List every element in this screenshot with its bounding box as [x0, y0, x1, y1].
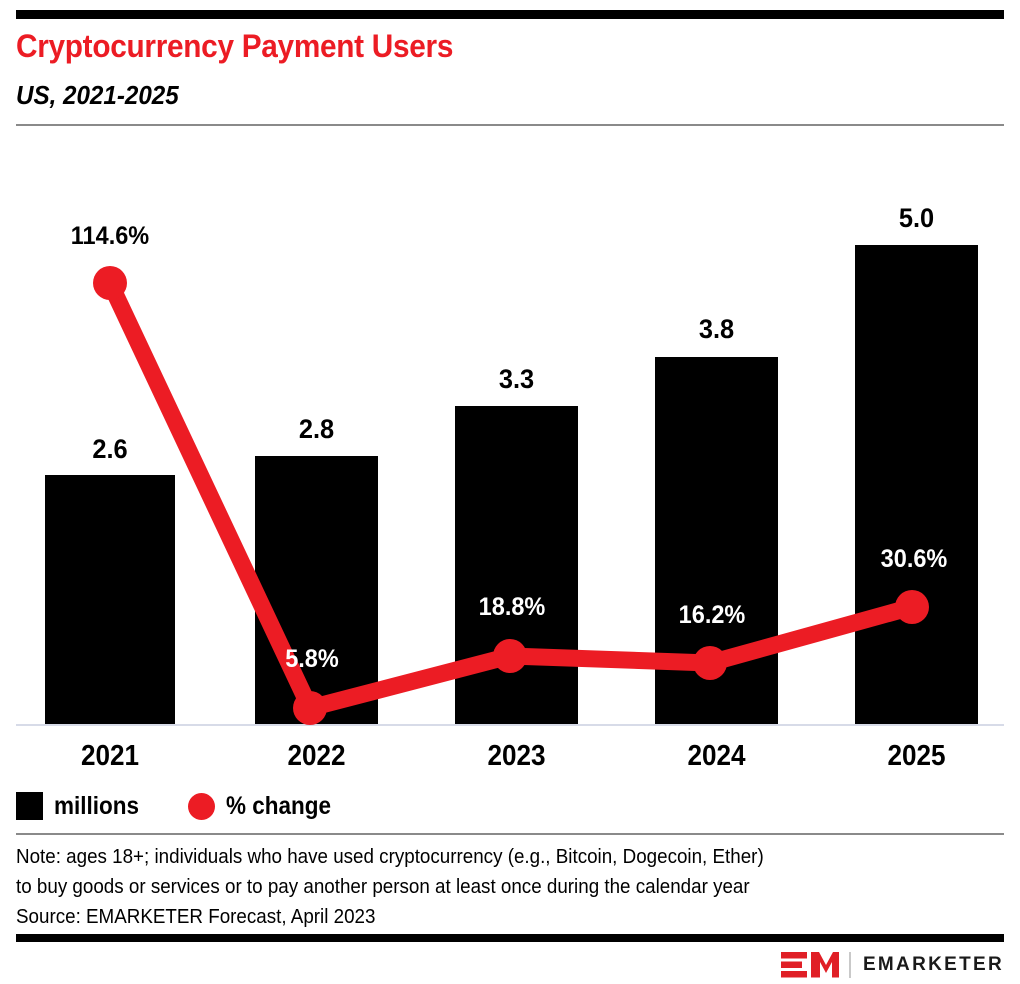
legend-circle-swatch-icon — [188, 793, 215, 820]
note-line-2: to buy goods or services or to pay anoth… — [16, 872, 945, 902]
note-line-1: Note: ages 18+; individuals who have use… — [16, 842, 945, 872]
bottom-rule — [16, 934, 1004, 942]
legend-item-percent-change: % change — [188, 792, 343, 821]
pct-label-2023: 18.8% — [427, 593, 596, 622]
top-rule — [16, 10, 1004, 19]
data-point-marker-2021 — [93, 266, 127, 300]
pct-label-2021: 114.6% — [25, 222, 194, 251]
legend-label-millions: millions — [54, 792, 139, 821]
pct-label-2022: 5.8% — [227, 645, 396, 674]
legend-item-millions: millions — [16, 792, 148, 821]
logo-wordmark: EMARKETER — [863, 954, 1004, 976]
header-divider — [16, 124, 1004, 126]
legend-square-swatch-icon — [16, 792, 43, 820]
pct-label-2025: 30.6% — [829, 545, 998, 574]
data-point-marker-2023 — [493, 639, 527, 673]
x-axis-labels: 2021 2022 2023 2024 2025 — [0, 740, 1020, 780]
emarketer-logo: EMARKETER — [781, 950, 1004, 980]
logo-divider — [849, 952, 851, 978]
infographic-page: Cryptocurrency Payment Users US, 2021-20… — [0, 0, 1020, 984]
data-point-marker-2022 — [293, 691, 327, 725]
x-label-2022: 2022 — [261, 740, 372, 773]
em-monogram-icon — [781, 951, 839, 979]
footer-notes: Note: ages 18+; individuals who have use… — [16, 842, 1004, 932]
x-label-2025: 2025 — [861, 740, 972, 773]
x-label-2024: 2024 — [661, 740, 772, 773]
x-label-2021: 2021 — [52, 740, 169, 773]
page-title: Cryptocurrency Payment Users — [16, 28, 453, 65]
data-point-marker-2024 — [693, 646, 727, 680]
chart-legend: millions % change — [16, 789, 383, 823]
chart-plot-area: 2.6 2.8 3.3 3.8 5.0 114.6% 5.8% 18.8% 16… — [0, 150, 1020, 740]
data-point-marker-2025 — [895, 590, 929, 624]
legend-divider — [16, 833, 1004, 835]
note-source: Source: EMARKETER Forecast, April 2023 — [16, 902, 945, 932]
pct-label-2024: 16.2% — [627, 601, 796, 630]
x-label-2023: 2023 — [461, 740, 572, 773]
page-subtitle: US, 2021-2025 — [16, 80, 179, 111]
legend-label-percent-change: % change — [226, 792, 331, 821]
